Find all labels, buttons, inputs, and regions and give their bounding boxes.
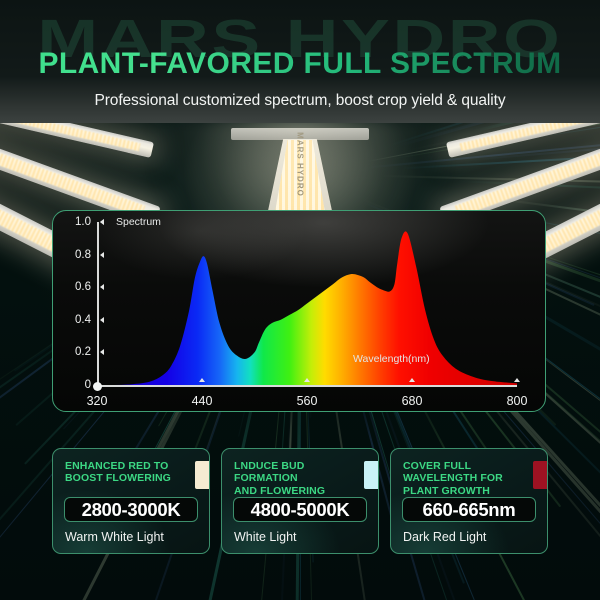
x-tick-mark	[514, 378, 520, 382]
x-axis-title: Wavelength(nm)	[353, 353, 430, 365]
x-tick-mark	[409, 378, 415, 382]
spec-card[interactable]: COVER FULL WAVELENGTH FOR PLANT GROWTH66…	[390, 448, 548, 554]
x-tick-label: 440	[192, 394, 213, 408]
spec-card[interactable]: LNDUCE BUD FORMATION AND FLOWERING4800-5…	[221, 448, 379, 554]
spec-card-heading: ENHANCED RED TO BOOST FLOWERING	[65, 460, 183, 485]
spec-card-value: 4800-5000K	[233, 497, 367, 522]
y-tick-mark	[100, 317, 104, 323]
y-axis-line	[97, 222, 99, 386]
y-tick-label: 0.4	[53, 314, 91, 326]
y-tick-mark	[100, 284, 104, 290]
page-subtitle: Professional customized spectrum, boost …	[0, 92, 600, 110]
x-tick-mark	[199, 378, 205, 382]
spec-card-color-swatch	[533, 461, 548, 489]
x-tick-label: 680	[402, 394, 423, 408]
spec-card-list: ENHANCED RED TO BOOST FLOWERING2800-3000…	[52, 448, 548, 554]
spectrum-area	[97, 231, 517, 385]
spec-card-caption: White Light	[234, 530, 297, 544]
y-tick-mark	[100, 349, 104, 355]
axis-origin-dot	[93, 382, 102, 391]
spec-card[interactable]: ENHANCED RED TO BOOST FLOWERING2800-3000…	[52, 448, 210, 554]
spec-card-heading: LNDUCE BUD FORMATION AND FLOWERING	[234, 460, 352, 497]
spectrum-plot: 1.00.80.60.40.20 320440560680800 Spectru…	[53, 211, 545, 411]
x-tick-mark	[304, 378, 310, 382]
legend-label: Spectrum	[116, 216, 161, 228]
x-tick-label: 560	[297, 394, 318, 408]
header-banner: MARS HYDRO PLANT-FAVORED FULL SPECTRUM P…	[0, 0, 600, 123]
y-tick-label: 0.2	[53, 346, 91, 358]
x-tick-label: 800	[507, 394, 528, 408]
spec-card-caption: Warm White Light	[65, 530, 164, 544]
x-axis-line	[97, 385, 517, 387]
y-tick-label: 0.6	[53, 281, 91, 293]
y-tick-mark	[100, 252, 104, 258]
y-tick-label: 0.8	[53, 249, 91, 261]
spec-card-color-swatch	[364, 461, 379, 489]
spectrum-chart-panel: 1.00.80.60.40.20 320440560680800 Spectru…	[52, 210, 546, 412]
spec-card-heading: COVER FULL WAVELENGTH FOR PLANT GROWTH	[403, 460, 521, 497]
spec-card-color-swatch	[195, 461, 210, 489]
y-tick-label: 0	[53, 379, 91, 391]
page-title: PLANT-FAVORED FULL SPECTRUM	[0, 47, 600, 81]
x-tick-label: 320	[87, 394, 108, 408]
y-tick-label: 1.0	[53, 216, 91, 228]
legend-marker-icon	[100, 219, 104, 225]
spec-card-value: 660-665nm	[402, 497, 536, 522]
spec-card-value: 2800-3000K	[64, 497, 198, 522]
spec-card-caption: Dark Red Light	[403, 530, 486, 544]
spectrum-curve	[53, 211, 546, 412]
